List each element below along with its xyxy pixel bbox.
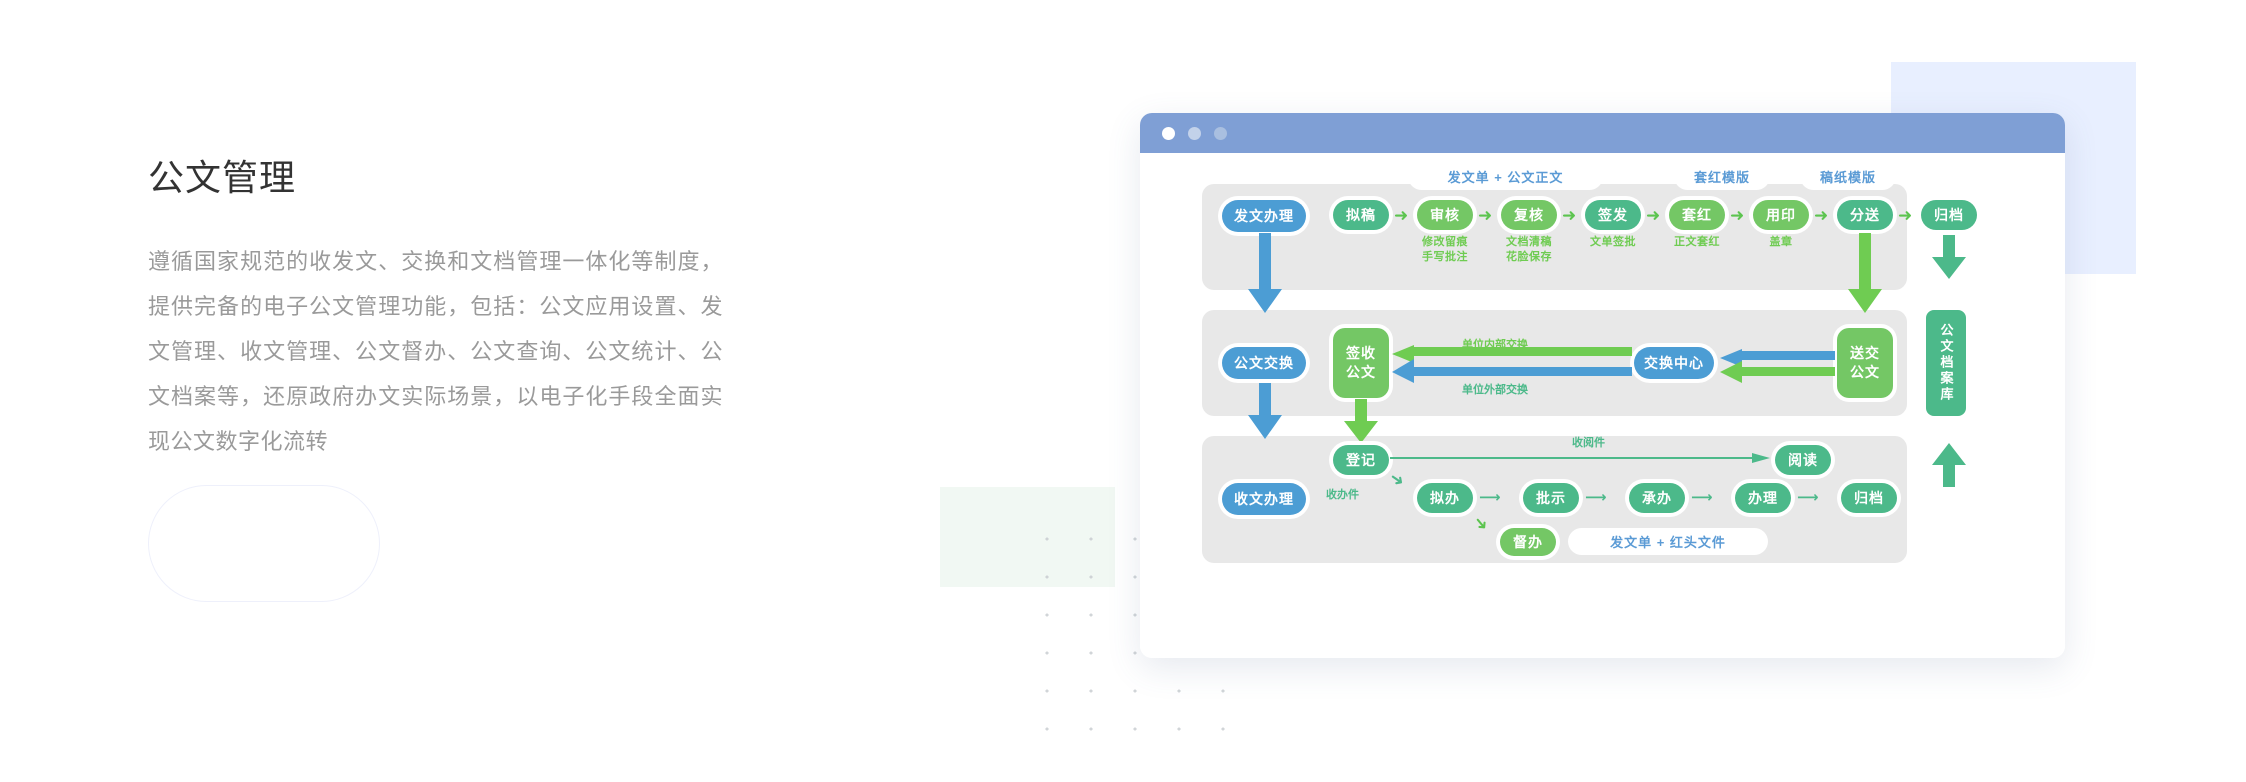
sublabel-recheck-1: 文档清稿 [1496, 235, 1562, 250]
node-receive-document-line2: 公文 [1346, 363, 1376, 382]
sublabel-review-2: 手写批注 [1412, 250, 1478, 265]
node-archive-row3[interactable]: 归档 [1841, 483, 1897, 513]
node-send-document[interactable]: 送交 公文 [1837, 328, 1893, 398]
browser-window-mockup: 发文单 + 公文正文 套红模版 稿纸模版 发文办理 拟稿 ➜ 审核 修改留痕 手… [1140, 113, 2065, 658]
node-send-document-line1: 送交 [1850, 344, 1880, 363]
sublabel-redline: 正文套红 [1664, 235, 1730, 250]
arrow-register-to-read [1390, 450, 1770, 466]
sublabel-recheck-2: 花脸保存 [1496, 250, 1562, 265]
arrow-down-dispatch-to-exchange [1248, 233, 1282, 317]
node-distribute[interactable]: 分送 [1837, 200, 1893, 230]
arrow-send-to-center [1720, 349, 1835, 383]
maximize-dot[interactable] [1214, 127, 1227, 140]
page-description: 遵循国家规范的收发文、交换和文档管理一体化等制度，提供完备的电子公文管理功能，包… [148, 239, 723, 464]
label-external-exchange: 单位外部交换 [1462, 381, 1528, 397]
arrow-seal-to-distribute: ➜ [1814, 207, 1828, 224]
sublabel-review-1: 修改留痕 [1412, 235, 1478, 250]
arrow-instruct-to-undertake: ⟶ [1585, 490, 1605, 505]
node-review[interactable]: 审核 [1417, 200, 1473, 230]
sublabel-issue: 文单签批 [1580, 235, 1646, 250]
node-register[interactable]: 登记 [1333, 445, 1389, 475]
node-exchange-center[interactable]: 交换中心 [1634, 347, 1714, 379]
node-supervise[interactable]: 督办 [1500, 528, 1556, 556]
caption-paper-template: 稿纸模版 [1800, 163, 1896, 190]
decor-rounded-outline [148, 485, 380, 602]
arrow-undertake-to-process: ⟶ [1691, 490, 1711, 505]
archive-repository-bar[interactable]: 公文档案库 [1926, 310, 1966, 416]
node-issue[interactable]: 签发 [1585, 200, 1641, 230]
caption-dispatch-doc: 发文单 + 公文正文 [1408, 163, 1603, 190]
caption-red-template: 套红模版 [1674, 163, 1770, 190]
arrow-draft-to-instruct: ⟶ [1479, 490, 1499, 505]
window-title-bar [1140, 113, 2065, 153]
arrow-redline-to-seal: ➜ [1730, 207, 1744, 224]
node-incoming-handling[interactable]: 收文办理 [1222, 483, 1306, 515]
label-internal-exchange: 单位内部交换 [1462, 336, 1528, 352]
node-document-exchange[interactable]: 公文交换 [1222, 347, 1306, 379]
minimize-dot[interactable] [1188, 127, 1201, 140]
node-instruct[interactable]: 批示 [1523, 483, 1579, 513]
label-read-items: 收阅件 [1572, 434, 1605, 450]
arrow-process-to-archive: ⟶ [1797, 490, 1817, 505]
node-dispatch-handling[interactable]: 发文办理 [1222, 200, 1306, 232]
text-column: 公文管理 遵循国家规范的收发文、交换和文档管理一体化等制度，提供完备的电子公文管… [148, 155, 728, 464]
node-draft[interactable]: 拟稿 [1333, 200, 1389, 230]
node-read[interactable]: 阅读 [1775, 445, 1831, 475]
node-send-document-line2: 公文 [1850, 363, 1880, 382]
arrow-review-to-recheck: ➜ [1478, 207, 1492, 224]
node-receive-document[interactable]: 签收 公文 [1333, 328, 1389, 398]
arrow-distribute-to-archive: ➜ [1898, 207, 1912, 224]
node-process[interactable]: 办理 [1735, 483, 1791, 513]
label-handle-items: 收办件 [1326, 486, 1359, 502]
arrow-recheck-to-issue: ➜ [1562, 207, 1576, 224]
arrow-draft-to-review: ➜ [1394, 207, 1408, 224]
node-recheck[interactable]: 复核 [1501, 200, 1557, 230]
node-archive-row1[interactable]: 归档 [1921, 200, 1977, 230]
arrow-up-archive-row3 [1932, 443, 1966, 489]
decor-green-square [940, 487, 1115, 587]
page-title: 公文管理 [148, 155, 728, 201]
arrow-issue-to-redline: ➜ [1646, 207, 1660, 224]
node-undertake[interactable]: 承办 [1629, 483, 1685, 513]
close-dot[interactable] [1162, 127, 1175, 140]
node-seal[interactable]: 用印 [1753, 200, 1809, 230]
arrow-down-distribute-to-send [1848, 233, 1882, 317]
sublabel-seal: 盖章 [1748, 235, 1814, 250]
node-draft-handle[interactable]: 拟办 [1417, 483, 1473, 513]
node-receive-document-line1: 签收 [1346, 344, 1376, 363]
arrow-down-receive-to-register [1344, 399, 1378, 445]
node-redline[interactable]: 套红 [1669, 200, 1725, 230]
arrow-down-archive-row1 [1932, 235, 1966, 281]
flow-diagram-canvas: 发文单 + 公文正文 套红模版 稿纸模版 发文办理 拟稿 ➜ 审核 修改留痕 手… [1140, 153, 2065, 658]
caption-incoming-doc: 发文单 + 红头文件 [1568, 528, 1768, 555]
